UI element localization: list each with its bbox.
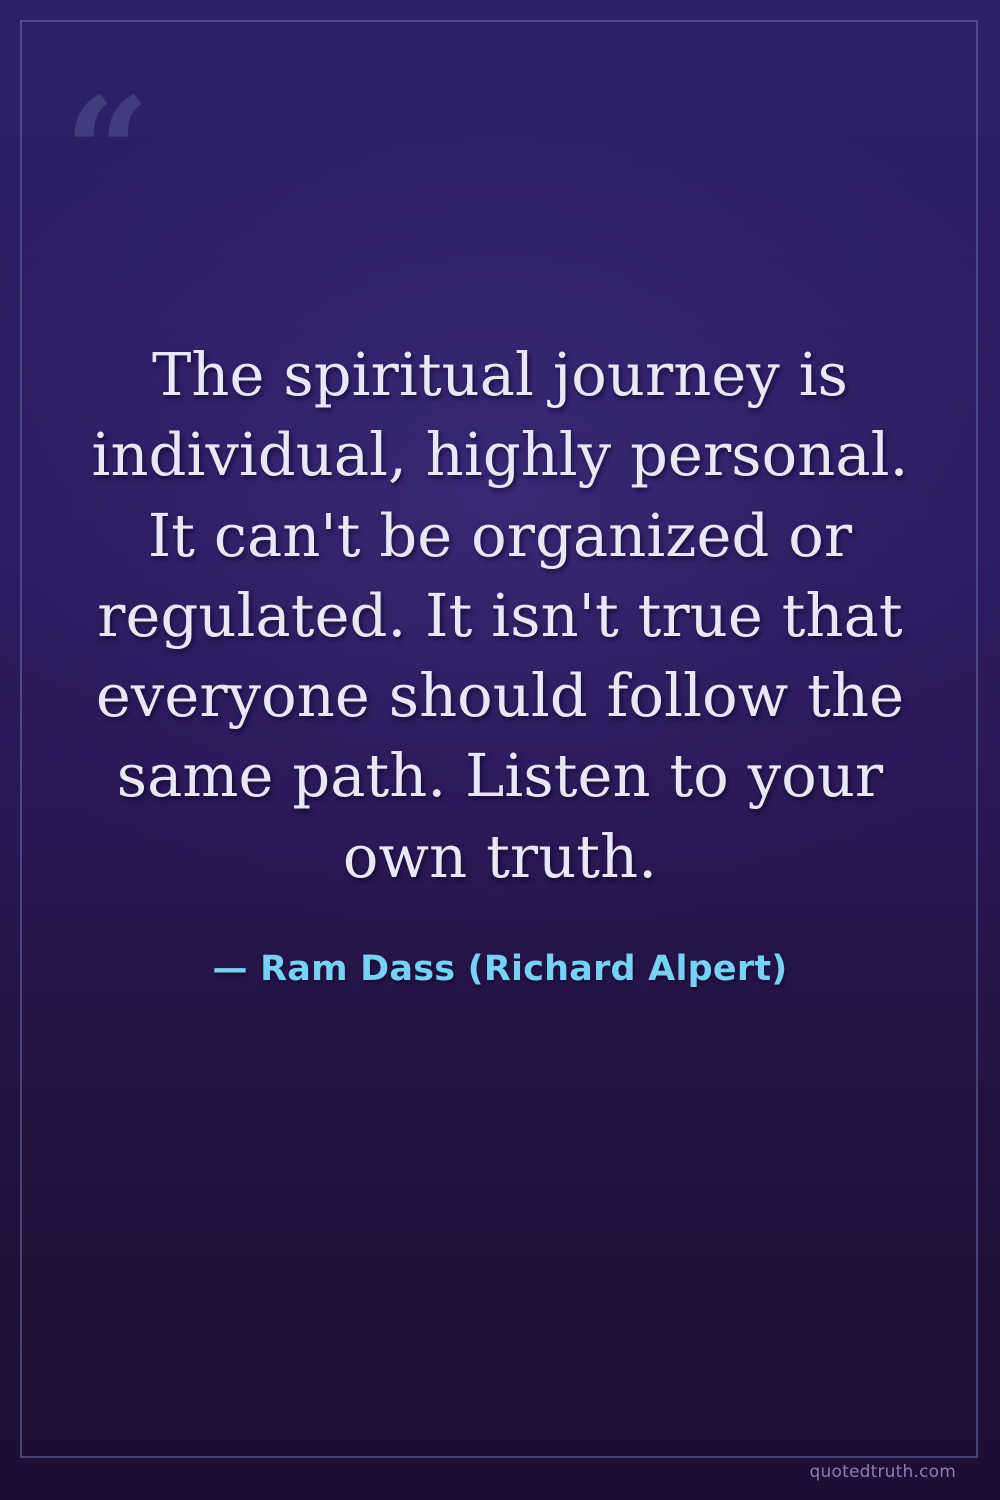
quote-content: The spiritual journey is individual, hig… (0, 0, 1000, 1500)
quote-text: The spiritual journey is individual, hig… (80, 335, 920, 897)
site-watermark: quotedtruth.com (810, 1462, 956, 1482)
quote-card: “ The spiritual journey is individual, h… (0, 0, 1000, 1500)
quote-attribution: — Ram Dass (Richard Alpert) (213, 949, 788, 989)
